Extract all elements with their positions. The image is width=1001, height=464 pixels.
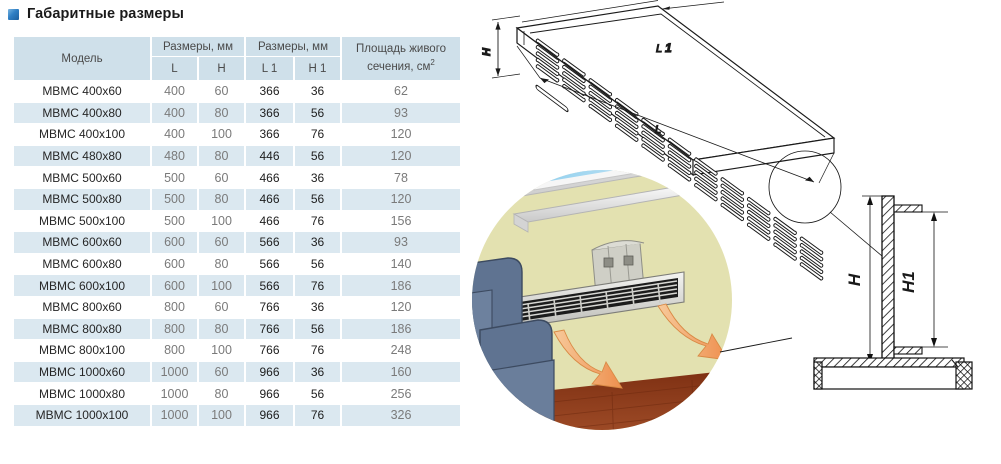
page-title-text: Габаритные размеры bbox=[27, 6, 184, 22]
cell-l: 600 bbox=[152, 275, 197, 296]
cell-l: 800 bbox=[152, 297, 197, 318]
cell-h1: 56 bbox=[295, 189, 340, 210]
table-row: МВМС 500x10050010046676156 bbox=[14, 211, 460, 232]
cell-area: 160 bbox=[342, 362, 460, 383]
cell-model: МВМС 800x60 bbox=[14, 297, 150, 318]
table-row: МВМС 400x60400603663662 bbox=[14, 81, 460, 102]
iso-label-H: H bbox=[481, 47, 493, 56]
table-row: МВМС 400x80400803665693 bbox=[14, 103, 460, 124]
cell-model: МВМС 500x80 bbox=[14, 189, 150, 210]
cell-area: 186 bbox=[342, 319, 460, 340]
col-header-area-line2: сечения, см bbox=[367, 60, 430, 72]
cell-model: МВМС 600x80 bbox=[14, 254, 150, 275]
cell-h1: 76 bbox=[295, 124, 340, 145]
cell-h1: 56 bbox=[295, 146, 340, 167]
callout-leader-line bbox=[830, 212, 882, 256]
table-row: МВМС 1000x100100010096676326 bbox=[14, 405, 460, 426]
cell-l1: 446 bbox=[246, 146, 293, 167]
cell-h1: 36 bbox=[295, 81, 340, 102]
col-header-l1: L 1 bbox=[246, 57, 293, 80]
col-header-area: Площадь живого сечения, см2 bbox=[342, 37, 460, 80]
cell-l: 480 bbox=[152, 146, 197, 167]
table-row: МВМС 600x60600605663693 bbox=[14, 232, 460, 253]
table-header: Модель Размеры, мм Размеры, мм Площадь ж… bbox=[14, 37, 460, 80]
cell-area: 186 bbox=[342, 275, 460, 296]
table-row: МВМС 400x10040010036676120 bbox=[14, 124, 460, 145]
col-header-area-sup: 2 bbox=[430, 58, 434, 67]
cell-l1: 366 bbox=[246, 103, 293, 124]
cell-area: 120 bbox=[342, 124, 460, 145]
section-label-H1: H1 bbox=[899, 271, 918, 293]
cell-model: МВМС 400x100 bbox=[14, 124, 150, 145]
plan-section-drawing bbox=[814, 358, 972, 389]
cell-h1: 36 bbox=[295, 167, 340, 188]
table-row: МВМС 1000x8010008096656256 bbox=[14, 383, 460, 404]
blue-square-bullet-icon bbox=[8, 9, 19, 20]
cell-model: МВМС 600x100 bbox=[14, 275, 150, 296]
table-row: МВМС 800x808008076656186 bbox=[14, 319, 460, 340]
cell-h1: 56 bbox=[295, 383, 340, 404]
cell-h: 60 bbox=[199, 167, 244, 188]
cell-h: 100 bbox=[199, 405, 244, 426]
cell-h: 100 bbox=[199, 124, 244, 145]
cell-area: 120 bbox=[342, 297, 460, 318]
cell-l1: 566 bbox=[246, 254, 293, 275]
table-row: МВМС 600x806008056656140 bbox=[14, 254, 460, 275]
cell-area: 78 bbox=[342, 167, 460, 188]
cell-model: МВМС 400x60 bbox=[14, 81, 150, 102]
cell-model: МВМС 400x80 bbox=[14, 103, 150, 124]
cell-l: 400 bbox=[152, 81, 197, 102]
cell-model: МВМС 1000x80 bbox=[14, 383, 150, 404]
dimensions-table-container: Модель Размеры, мм Размеры, мм Площадь ж… bbox=[12, 36, 456, 427]
cell-h: 100 bbox=[199, 275, 244, 296]
cell-h1: 76 bbox=[295, 405, 340, 426]
cell-l1: 766 bbox=[246, 319, 293, 340]
cell-l1: 366 bbox=[246, 81, 293, 102]
col-header-h: H bbox=[199, 57, 244, 80]
cell-h1: 36 bbox=[295, 297, 340, 318]
cell-l: 600 bbox=[152, 232, 197, 253]
cell-area: 93 bbox=[342, 103, 460, 124]
cell-area: 140 bbox=[342, 254, 460, 275]
cell-l: 400 bbox=[152, 124, 197, 145]
cell-l: 400 bbox=[152, 103, 197, 124]
cell-h1: 36 bbox=[295, 232, 340, 253]
cell-area: 326 bbox=[342, 405, 460, 426]
cell-l: 500 bbox=[152, 211, 197, 232]
cell-l: 600 bbox=[152, 254, 197, 275]
cell-h1: 56 bbox=[295, 319, 340, 340]
cell-h: 80 bbox=[199, 319, 244, 340]
cell-model: МВМС 800x100 bbox=[14, 340, 150, 361]
table-row: МВМС 800x10080010076676248 bbox=[14, 340, 460, 361]
table-row: МВМС 600x10060010056676186 bbox=[14, 275, 460, 296]
cell-l1: 966 bbox=[246, 383, 293, 404]
cell-l: 1000 bbox=[152, 383, 197, 404]
cell-model: МВМС 500x100 bbox=[14, 211, 150, 232]
page-title: Габаритные размеры bbox=[8, 6, 184, 22]
cell-h1: 36 bbox=[295, 362, 340, 383]
table-row: МВМС 500x60500604663678 bbox=[14, 167, 460, 188]
cell-l1: 566 bbox=[246, 275, 293, 296]
table-row: МВМС 800x608006076636120 bbox=[14, 297, 460, 318]
cell-area: 156 bbox=[342, 211, 460, 232]
cell-l: 800 bbox=[152, 340, 197, 361]
cell-area: 120 bbox=[342, 189, 460, 210]
front-section-drawing: H H1 bbox=[845, 196, 948, 363]
cell-h1: 76 bbox=[295, 275, 340, 296]
cell-h1: 76 bbox=[295, 211, 340, 232]
cell-model: МВМС 500x60 bbox=[14, 167, 150, 188]
cell-l1: 966 bbox=[246, 362, 293, 383]
cell-l: 1000 bbox=[152, 362, 197, 383]
cell-model: МВМС 1000x60 bbox=[14, 362, 150, 383]
cell-h: 60 bbox=[199, 232, 244, 253]
table-row: МВМС 500x805008046656120 bbox=[14, 189, 460, 210]
cell-h: 80 bbox=[199, 254, 244, 275]
cell-h: 60 bbox=[199, 297, 244, 318]
table-row: МВМС 1000x6010006096636160 bbox=[14, 362, 460, 383]
cell-l1: 766 bbox=[246, 340, 293, 361]
col-header-group-outer: Размеры, мм bbox=[152, 37, 244, 56]
cell-h: 60 bbox=[199, 81, 244, 102]
cell-h: 80 bbox=[199, 146, 244, 167]
cell-model: МВМС 1000x100 bbox=[14, 405, 150, 426]
cell-l1: 466 bbox=[246, 211, 293, 232]
cell-h1: 56 bbox=[295, 103, 340, 124]
artwork-panel: L 1 L H bbox=[462, 0, 1001, 464]
cell-area: 256 bbox=[342, 383, 460, 404]
cell-area: 248 bbox=[342, 340, 460, 361]
cell-l1: 466 bbox=[246, 189, 293, 210]
cell-model: МВМС 800x80 bbox=[14, 319, 150, 340]
iso-label-L1: L 1 bbox=[656, 41, 672, 55]
cell-l1: 366 bbox=[246, 124, 293, 145]
cell-h1: 56 bbox=[295, 254, 340, 275]
cell-area: 120 bbox=[342, 146, 460, 167]
cell-area: 93 bbox=[342, 232, 460, 253]
col-header-group-inner: Размеры, мм bbox=[246, 37, 340, 56]
cell-l1: 766 bbox=[246, 297, 293, 318]
cell-l: 500 bbox=[152, 167, 197, 188]
cell-l1: 966 bbox=[246, 405, 293, 426]
cell-h: 100 bbox=[199, 211, 244, 232]
section-label-H: H bbox=[845, 273, 864, 286]
dimensions-table: Модель Размеры, мм Размеры, мм Площадь ж… bbox=[12, 36, 462, 427]
table-row: МВМС 480x804808044656120 bbox=[14, 146, 460, 167]
cell-model: МВМС 480x80 bbox=[14, 146, 150, 167]
col-header-area-line1: Площадь живого bbox=[356, 43, 446, 55]
illustration-leader-line bbox=[720, 338, 792, 352]
cell-l1: 466 bbox=[246, 167, 293, 188]
cell-h: 80 bbox=[199, 103, 244, 124]
cell-model: МВМС 600x60 bbox=[14, 232, 150, 253]
cell-h: 60 bbox=[199, 362, 244, 383]
col-header-model: Модель bbox=[14, 37, 150, 80]
iso-label-L: L bbox=[655, 124, 661, 136]
spec-sheet-page: Габаритные размеры Модель Размеры, мм Ра… bbox=[0, 0, 1001, 464]
cell-l: 1000 bbox=[152, 405, 197, 426]
table-body: МВМС 400x60400603663662МВМС 400x80400803… bbox=[14, 81, 460, 426]
cell-h: 80 bbox=[199, 189, 244, 210]
cell-l: 800 bbox=[152, 319, 197, 340]
col-header-l: L bbox=[152, 57, 197, 80]
cell-area: 62 bbox=[342, 81, 460, 102]
cell-l: 500 bbox=[152, 189, 197, 210]
cell-l1: 566 bbox=[246, 232, 293, 253]
col-header-h1: H 1 bbox=[295, 57, 340, 80]
cell-h: 100 bbox=[199, 340, 244, 361]
cell-h1: 76 bbox=[295, 340, 340, 361]
cell-h: 80 bbox=[199, 383, 244, 404]
